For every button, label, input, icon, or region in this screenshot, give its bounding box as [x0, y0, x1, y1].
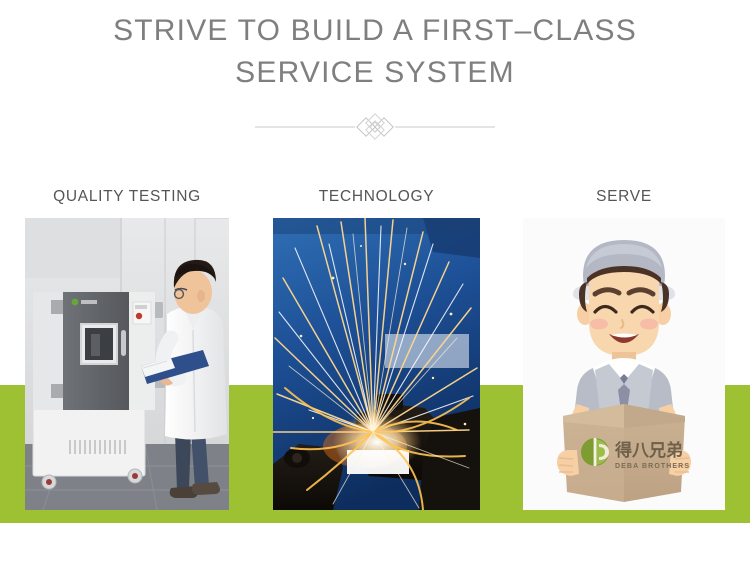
card-image-serve: 得八兄弟 DEBA BROTHERS — [523, 218, 725, 510]
section-divider — [255, 112, 495, 142]
page-title: STRIVE TO BUILD A FIRST–CLASS SERVICE SY… — [0, 10, 750, 94]
card-label-serve: SERVE — [523, 188, 725, 206]
double-diamond-ornament-icon — [255, 112, 495, 142]
card-image-technology — [273, 218, 480, 510]
page-title-line-1: STRIVE TO BUILD A FIRST–CLASS — [0, 10, 750, 52]
brand-logo-cn: 得八兄弟 — [614, 440, 683, 461]
card-image-quality-testing — [25, 218, 229, 510]
page-title-line-2: SERVICE SYSTEM — [0, 52, 750, 94]
brand-logo-en: DEBA BROTHERS — [615, 463, 690, 470]
card-label-technology: TECHNOLOGY — [273, 188, 480, 206]
brand-logo-mark — [581, 438, 609, 466]
card-label-quality-testing: QUALITY TESTING — [25, 188, 229, 206]
